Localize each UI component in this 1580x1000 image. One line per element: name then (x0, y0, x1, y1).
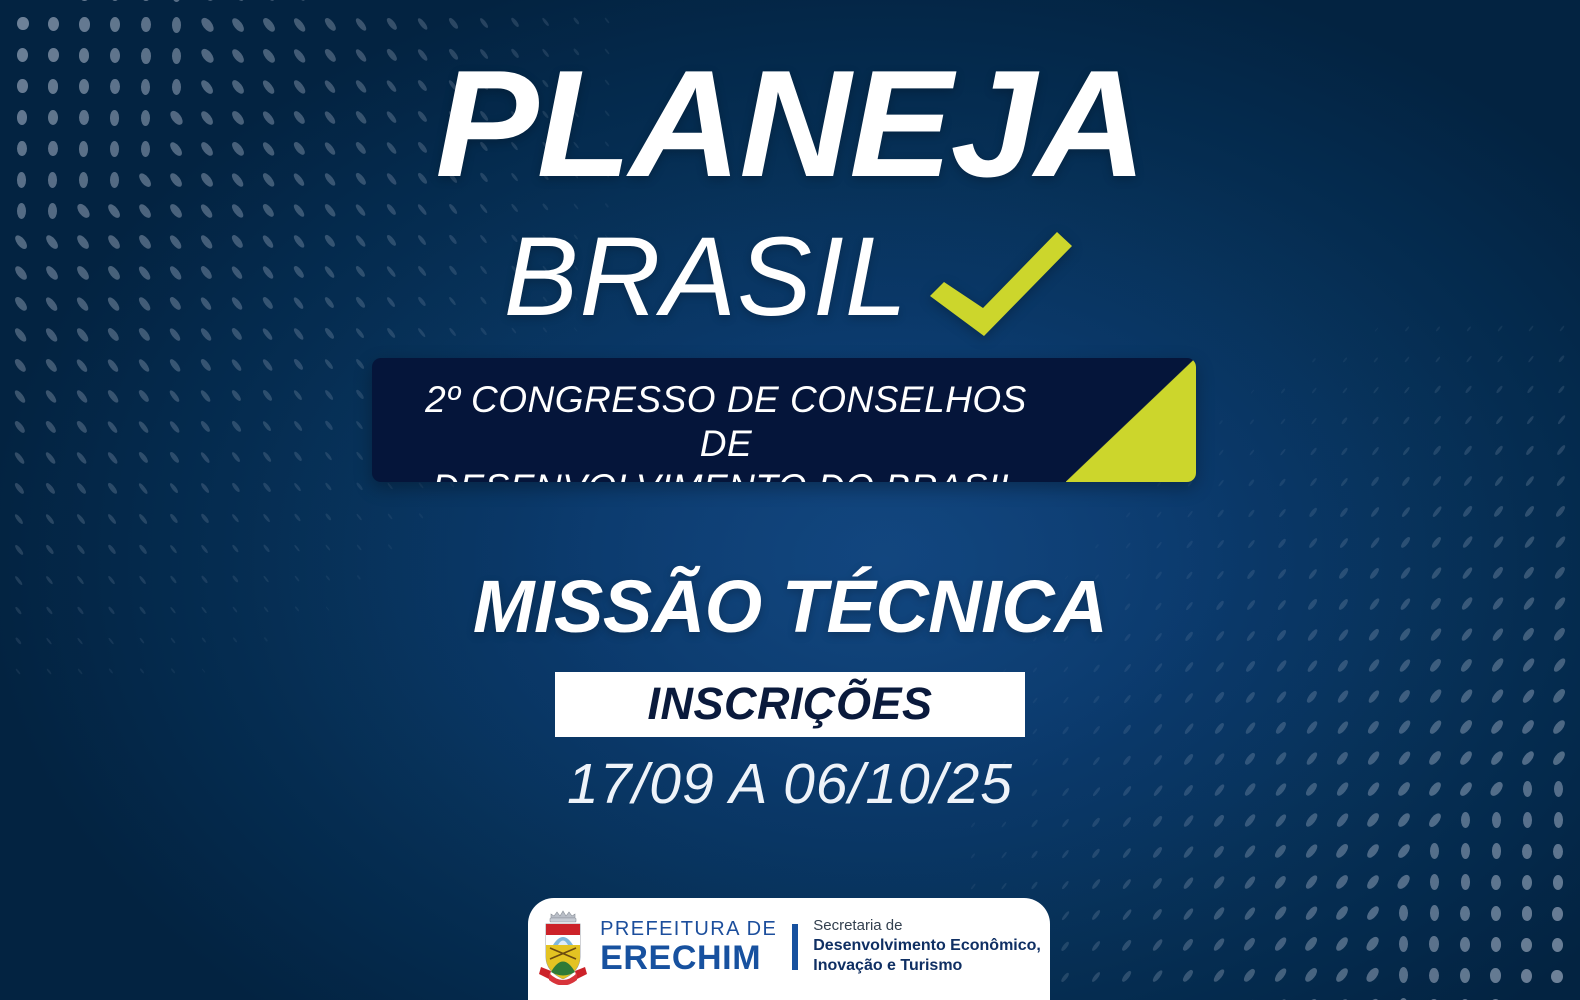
inscriptions-badge: INSCRIÇÕES (555, 672, 1025, 737)
congress-banner-text: 2º CONGRESSO DE CONSELHOS DE DESENVOLVIM… (372, 358, 1196, 482)
subtitle-brand-label: BRASIL (504, 221, 908, 333)
poster-canvas: PLANEJA BRASIL 2º CONGRESSO DE CONSELHOS… (0, 0, 1580, 1000)
mission-heading: MISSÃO TÉCNICA (0, 570, 1580, 644)
secretaria-line-1: Secretaria de (813, 917, 1041, 936)
congress-banner: 2º CONGRESSO DE CONSELHOS DE DESENVOLVIM… (372, 358, 1196, 482)
secretaria-wordmark: Secretaria de Desenvolvimento Econômico,… (813, 917, 1041, 976)
check-icon (926, 232, 1076, 336)
erechim-coat-of-arms-icon (537, 909, 589, 985)
secretaria-line-3: Inovação e Turismo (813, 956, 1041, 976)
inscriptions-label: INSCRIÇÕES (647, 678, 932, 729)
prefeitura-city-label: ERECHIM (600, 941, 777, 975)
inscriptions-wrapper: INSCRIÇÕES (0, 672, 1580, 737)
prefeitura-top-label: PREFEITURA DE (600, 919, 777, 939)
footer-logo-lockup: PREFEITURA DE ERECHIM Secretaria de Dese… (537, 909, 1041, 985)
registration-dates: 17/09 A 06/10/25 (0, 756, 1580, 813)
page-title: PLANEJA (0, 48, 1580, 200)
subtitle-brand: BRASIL (0, 218, 1580, 336)
prefeitura-wordmark: PREFEITURA DE ERECHIM (600, 919, 777, 975)
footer-logo-card: PREFEITURA DE ERECHIM Secretaria de Dese… (528, 898, 1050, 1000)
logo-divider (792, 924, 798, 970)
secretaria-line-2: Desenvolvimento Econômico, (813, 936, 1041, 956)
